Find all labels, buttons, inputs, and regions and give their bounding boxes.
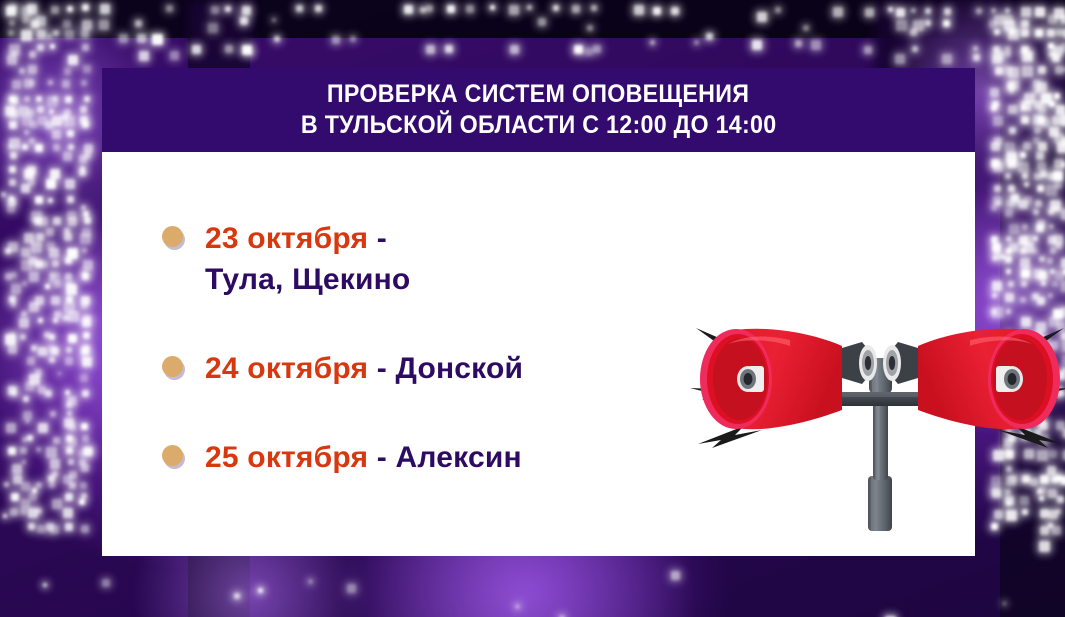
window-light — [11, 493, 19, 501]
window-light — [1039, 256, 1045, 262]
schedule-places: Донской — [396, 352, 524, 385]
window-light — [13, 475, 22, 484]
window-light — [991, 236, 998, 243]
window-light — [23, 411, 32, 420]
window-light — [27, 357, 35, 365]
window-light — [1021, 101, 1031, 111]
window-light — [52, 116, 62, 126]
page-title-line-1: ПРОВЕРКА СИСТЕМ ОПОВЕЩЕНИЯ — [327, 79, 749, 110]
window-light — [12, 464, 22, 474]
window-light — [37, 525, 45, 533]
window-light — [11, 272, 17, 278]
window-light — [28, 508, 38, 518]
window-light — [240, 17, 248, 25]
window-light — [896, 8, 905, 17]
window-light — [1049, 101, 1055, 107]
window-light — [1050, 269, 1055, 274]
window-light — [81, 423, 88, 430]
window-light — [83, 211, 89, 217]
window-light — [1033, 236, 1038, 241]
window-light — [587, 25, 593, 31]
window-light — [274, 36, 280, 42]
window-light — [82, 248, 87, 253]
window-light — [65, 357, 73, 365]
window-light — [426, 5, 433, 12]
window-light — [9, 166, 16, 173]
window-light — [82, 357, 89, 364]
window-light — [68, 144, 74, 150]
window-light — [1033, 80, 1041, 88]
window-light — [9, 109, 18, 118]
window-light — [52, 130, 61, 139]
window-light — [1041, 118, 1050, 127]
window-light — [1004, 15, 1013, 24]
window-light — [82, 228, 91, 237]
window-light — [8, 447, 16, 455]
window-light — [1001, 255, 1005, 259]
window-light — [943, 20, 950, 27]
window-light — [84, 96, 90, 102]
window-light — [81, 30, 89, 38]
window-light — [135, 20, 142, 27]
window-light — [1032, 248, 1038, 254]
window-light — [29, 51, 36, 58]
window-light — [83, 332, 90, 339]
page-title-line-2: В ТУЛЬСКОЙ ОБЛАСТИ С 12:00 ДО 14:00 — [301, 110, 777, 141]
window-light — [65, 273, 72, 280]
window-light — [9, 4, 17, 12]
window-light — [1036, 152, 1044, 160]
window-light — [170, 51, 179, 60]
window-light — [63, 20, 71, 28]
window-light — [1035, 200, 1042, 207]
window-light — [208, 23, 218, 33]
window-light — [65, 493, 73, 501]
window-light — [63, 315, 69, 321]
window-light — [925, 20, 931, 26]
window-light — [911, 8, 916, 13]
window-light — [38, 347, 47, 356]
window-light — [27, 435, 33, 441]
window-light — [671, 571, 680, 580]
window-light — [347, 584, 356, 593]
window-light — [1046, 185, 1057, 196]
window-light — [81, 525, 89, 533]
window-light — [51, 6, 59, 14]
window-light — [248, 50, 253, 55]
window-light — [591, 5, 597, 11]
window-light — [43, 583, 47, 587]
list-item-text: 23 октября - Тула, Щекино — [205, 218, 410, 300]
window-light — [83, 315, 91, 323]
window-light — [706, 33, 713, 40]
window-light — [45, 284, 50, 289]
window-light — [994, 15, 1004, 25]
window-light — [65, 96, 72, 103]
window-light — [1056, 105, 1065, 115]
window-light — [38, 423, 48, 433]
window-light — [10, 96, 18, 104]
window-light — [66, 284, 77, 295]
window-light — [1008, 281, 1014, 287]
window-light — [1061, 115, 1065, 126]
window-light — [1006, 236, 1012, 242]
window-light — [84, 447, 93, 456]
window-light — [1006, 269, 1011, 274]
window-light — [993, 252, 1001, 260]
window-light — [1006, 248, 1012, 254]
window-light — [80, 482, 87, 489]
window-light — [82, 20, 92, 30]
window-light — [1034, 127, 1041, 134]
window-light — [942, 54, 952, 64]
window-light — [166, 5, 173, 12]
window-light — [8, 242, 18, 252]
window-light — [50, 411, 56, 417]
window-light — [1009, 127, 1016, 134]
window-light — [234, 593, 240, 599]
window-light — [3, 514, 7, 518]
window-light — [420, 7, 426, 13]
schedule-places: Тула, Щекино — [205, 263, 410, 296]
window-light — [671, 7, 679, 15]
window-light — [51, 296, 60, 305]
window-light — [48, 345, 56, 353]
window-light — [1024, 182, 1029, 187]
window-light — [1047, 258, 1053, 264]
window-light — [46, 523, 54, 531]
window-light — [65, 390, 70, 395]
window-light — [99, 20, 109, 30]
window-light — [1061, 162, 1065, 167]
window-light — [895, 54, 905, 64]
window-light — [82, 390, 89, 397]
window-light — [992, 281, 1002, 291]
window-light — [1061, 209, 1065, 220]
window-light — [64, 302, 75, 313]
window-light — [78, 450, 85, 457]
window-light — [8, 30, 14, 36]
window-light — [315, 5, 322, 12]
window-light — [9, 179, 16, 186]
window-light — [53, 30, 59, 36]
window-light — [29, 80, 35, 86]
window-light — [1037, 162, 1046, 171]
window-light — [272, 18, 276, 22]
window-light — [46, 447, 57, 458]
window-light — [1033, 209, 1039, 215]
window-light — [1050, 248, 1056, 254]
window-light — [7, 205, 15, 213]
window-light — [1055, 66, 1063, 74]
window-light — [49, 482, 55, 488]
list-item: 25 октября - Алексин — [162, 437, 632, 478]
window-light — [21, 30, 32, 41]
window-light — [152, 34, 163, 45]
window-light — [36, 447, 41, 452]
window-light — [35, 196, 43, 204]
window-light — [1005, 209, 1013, 217]
window-light — [634, 5, 644, 15]
window-light — [102, 579, 110, 587]
window-light — [82, 345, 90, 353]
window-light — [1005, 173, 1011, 179]
window-light — [83, 65, 91, 73]
window-light — [8, 345, 17, 354]
window-light — [67, 196, 74, 203]
window-light — [22, 16, 29, 23]
window-light — [29, 138, 35, 144]
window-light — [973, 46, 978, 51]
window-light — [752, 40, 762, 50]
list-item: 24 октября - Донской — [162, 348, 632, 389]
window-light — [6, 423, 16, 433]
window-light — [925, 8, 931, 14]
window-light — [1008, 105, 1017, 114]
window-light — [1020, 152, 1026, 158]
window-light — [84, 152, 91, 159]
window-light — [4, 482, 9, 487]
window-light — [82, 121, 89, 128]
window-light — [45, 390, 52, 397]
window-light — [81, 493, 87, 499]
window-light — [426, 45, 435, 54]
window-light — [888, 7, 893, 12]
window-light — [1052, 116, 1061, 125]
window-light — [29, 493, 37, 501]
window-light — [27, 109, 34, 116]
window-light — [20, 334, 26, 340]
schedule-date: 25 октября — [205, 441, 368, 474]
window-light — [995, 67, 1003, 75]
window-light — [80, 374, 88, 382]
window-light — [23, 396, 29, 402]
window-light — [65, 257, 72, 264]
window-light — [28, 523, 35, 530]
window-light — [53, 437, 60, 444]
window-light — [31, 345, 37, 351]
window-light — [52, 499, 62, 509]
window-light — [1005, 51, 1011, 57]
window-light — [1035, 7, 1045, 17]
window-light — [8, 198, 16, 206]
window-light — [650, 40, 655, 45]
window-light — [22, 281, 27, 286]
window-light — [11, 284, 21, 294]
list-item-text: 25 октября - Алексин — [205, 437, 522, 478]
window-light — [64, 233, 72, 241]
window-light — [67, 130, 74, 137]
window-light — [896, 20, 907, 31]
window-light — [100, 4, 110, 14]
window-light — [9, 332, 15, 338]
window-light — [53, 144, 60, 151]
announcement-card: ПРОВЕРКА СИСТЕМ ОПОВЕЩЕНИЯ В ТУЛЬСКОЙ ОБ… — [102, 68, 975, 556]
window-light — [1009, 224, 1019, 234]
window-light — [490, 5, 495, 10]
window-light — [1019, 236, 1028, 245]
window-light — [31, 242, 42, 253]
window-light — [53, 217, 61, 225]
window-light — [36, 482, 42, 488]
card-header: ПРОВЕРКА СИСТЕМ ОПОВЕЩЕНИЯ В ТУЛЬСКОЙ ОБ… — [102, 68, 975, 152]
window-light — [585, 48, 593, 56]
window-light — [30, 121, 37, 128]
window-light — [994, 137, 1002, 145]
window-light — [68, 55, 78, 65]
window-light — [1048, 173, 1055, 180]
window-light — [66, 347, 72, 353]
window-light — [1052, 281, 1058, 287]
window-light — [50, 44, 55, 49]
window-light — [49, 357, 55, 363]
window-light — [47, 242, 55, 250]
window-light — [1003, 602, 1006, 605]
window-light — [139, 51, 149, 61]
window-light — [865, 8, 874, 17]
schedule-places: Алексин — [396, 441, 522, 474]
window-light — [225, 6, 231, 12]
window-light — [64, 228, 70, 234]
window-light — [66, 435, 73, 442]
window-light — [694, 40, 699, 45]
window-light — [225, 45, 233, 53]
window-light — [20, 508, 27, 515]
window-light — [54, 311, 61, 318]
window-light — [37, 44, 44, 51]
window-light — [64, 68, 71, 75]
window-light — [1061, 15, 1065, 24]
window-light — [1034, 269, 1044, 279]
window-light — [48, 198, 53, 203]
window-light — [37, 106, 44, 113]
window-light — [1021, 281, 1027, 287]
window-light — [41, 261, 48, 268]
window-light — [795, 40, 802, 47]
window-light — [992, 101, 999, 108]
window-light — [510, 45, 519, 54]
window-light — [242, 6, 251, 15]
window-light — [1056, 243, 1062, 249]
window-light — [24, 96, 30, 102]
window-light — [296, 5, 303, 12]
window-light — [527, 5, 532, 10]
window-light — [309, 580, 312, 583]
window-light — [137, 34, 146, 43]
window-light — [49, 109, 54, 114]
window-light — [973, 54, 980, 61]
window-light — [1007, 162, 1013, 168]
window-light — [1021, 269, 1030, 278]
window-light — [995, 200, 1001, 206]
window-light — [45, 121, 53, 129]
window-light — [82, 435, 89, 442]
window-light — [1061, 258, 1065, 268]
window-light — [67, 411, 72, 416]
window-light — [994, 185, 1001, 192]
window-light — [35, 144, 43, 152]
window-light — [50, 169, 60, 179]
schedule-separator: - — [377, 441, 387, 474]
window-light — [24, 130, 29, 135]
window-light — [1020, 258, 1030, 268]
window-light — [83, 260, 93, 270]
window-light — [21, 311, 27, 317]
window-light — [445, 45, 453, 53]
window-light — [1048, 15, 1057, 24]
window-light — [1034, 101, 1042, 109]
window-light — [992, 243, 1001, 252]
window-light — [63, 475, 72, 484]
list-item: 23 октября - Тула, Щекино — [162, 218, 632, 300]
window-light — [991, 205, 997, 211]
window-light — [1021, 29, 1029, 37]
window-light — [1048, 236, 1056, 244]
window-light — [21, 482, 30, 491]
window-light — [1005, 8, 1010, 13]
window-light — [350, 36, 356, 42]
window-light — [69, 398, 74, 403]
window-light — [1009, 29, 1015, 35]
window-light — [48, 475, 55, 482]
window-light — [1036, 224, 1044, 232]
window-light — [1022, 173, 1028, 179]
window-light — [22, 144, 28, 150]
window-light — [36, 233, 44, 241]
schedule-separator: - — [377, 352, 387, 385]
window-light — [538, 18, 546, 26]
window-light — [65, 30, 74, 39]
window-light — [44, 332, 50, 338]
window-light — [12, 80, 21, 89]
window-light — [47, 96, 58, 107]
window-light — [1005, 256, 1012, 263]
window-light — [994, 29, 1000, 35]
window-light — [10, 152, 17, 159]
schedule-separator: - — [377, 222, 387, 255]
schedule-date: 23 октября — [205, 222, 368, 255]
window-light — [29, 257, 37, 265]
window-light — [81, 302, 88, 309]
window-light — [62, 114, 68, 120]
window-light — [1041, 281, 1046, 286]
window-light — [46, 179, 56, 189]
window-light — [1033, 137, 1040, 144]
window-light — [1035, 29, 1043, 37]
window-light — [27, 4, 37, 14]
window-light — [1021, 20, 1029, 28]
bullet-icon — [162, 226, 183, 247]
window-light — [1034, 173, 1041, 180]
window-light — [37, 30, 46, 39]
window-light — [1021, 116, 1029, 124]
window-light — [990, 88, 999, 97]
window-light — [593, 45, 601, 53]
window-light — [553, 5, 559, 11]
loudspeaker-horn-left — [700, 329, 877, 429]
window-light — [22, 460, 26, 464]
window-light — [1022, 66, 1033, 77]
window-light — [1048, 209, 1054, 215]
window-light — [803, 25, 809, 31]
window-light — [653, 7, 661, 15]
window-light — [58, 372, 61, 375]
window-light — [21, 248, 30, 257]
window-light — [79, 499, 85, 505]
window-light — [62, 80, 70, 88]
window-light — [1008, 185, 1015, 192]
window-light — [944, 8, 951, 15]
